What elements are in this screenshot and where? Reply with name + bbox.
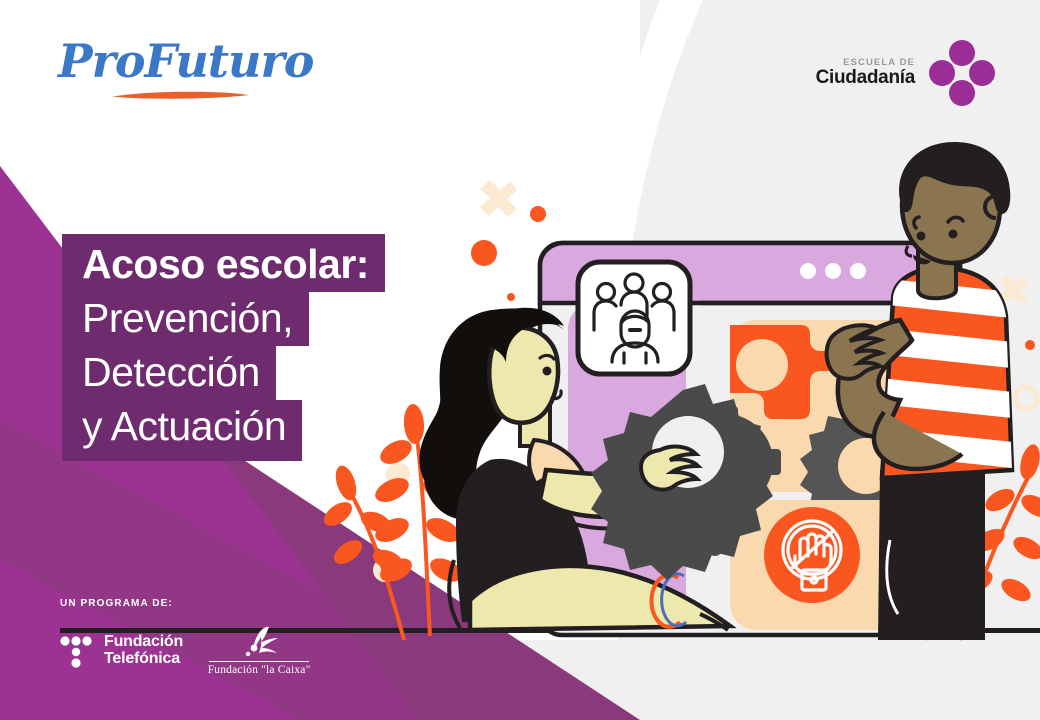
profuturo-wordmark: ProFuturo	[58, 38, 278, 84]
sponsors-block: UN PROGRAMA DE: Fundación Telefónica	[60, 598, 309, 676]
telefonica-dots-icon	[60, 634, 94, 668]
profuturo-swoosh-icon	[96, 90, 264, 100]
orange-dot-large	[471, 240, 497, 266]
escuela-diamond-dots-icon	[929, 40, 995, 106]
caixa-rule	[209, 661, 309, 662]
title-line-1: Acoso escolar:	[62, 234, 385, 292]
escuela-line2: Ciudadanía	[816, 68, 915, 88]
cover-title: Acoso escolar: Prevención, Detección y A…	[62, 234, 385, 461]
card-group-people	[578, 262, 690, 374]
orange-dot-tiny	[507, 293, 515, 301]
fundacion-telefonica-logo[interactable]: Fundación Telefónica	[60, 634, 183, 668]
telefonica-line1: Fundación	[104, 634, 183, 651]
cream-cross	[480, 180, 517, 217]
cover-page: ProFuturo ESCUELA DE Ciudadanía Acoso es…	[0, 0, 1040, 720]
cream-ring	[1015, 387, 1037, 409]
caixa-star-icon	[233, 625, 285, 659]
orange-dot-tiny-2	[1025, 340, 1035, 350]
telefonica-wordmark: Fundación Telefónica	[104, 634, 183, 668]
window-dots	[800, 263, 866, 279]
puzzle-hole	[736, 339, 788, 391]
profuturo-logo[interactable]: ProFuturo	[58, 38, 278, 110]
title-line-2: Prevención,	[62, 292, 309, 346]
title-line-4: y Actuación	[62, 400, 302, 461]
title-line-3: Detección	[62, 346, 276, 400]
fundacion-lacaixa-logo[interactable]: Fundación "la Caixa"	[209, 625, 309, 676]
telefonica-line2: Telefónica	[104, 651, 183, 668]
escuela-ciudadania-logo[interactable]: ESCUELA DE Ciudadanía	[816, 40, 995, 106]
sponsors-label: UN PROGRAMA DE:	[60, 598, 309, 609]
caixa-caption: Fundación "la Caixa"	[208, 664, 311, 676]
orange-dot-medium	[530, 206, 546, 222]
sponsors-row: Fundación Telefónica Fundación "la Caixa…	[60, 625, 309, 676]
escuela-text-block: ESCUELA DE Ciudadanía	[816, 58, 915, 88]
